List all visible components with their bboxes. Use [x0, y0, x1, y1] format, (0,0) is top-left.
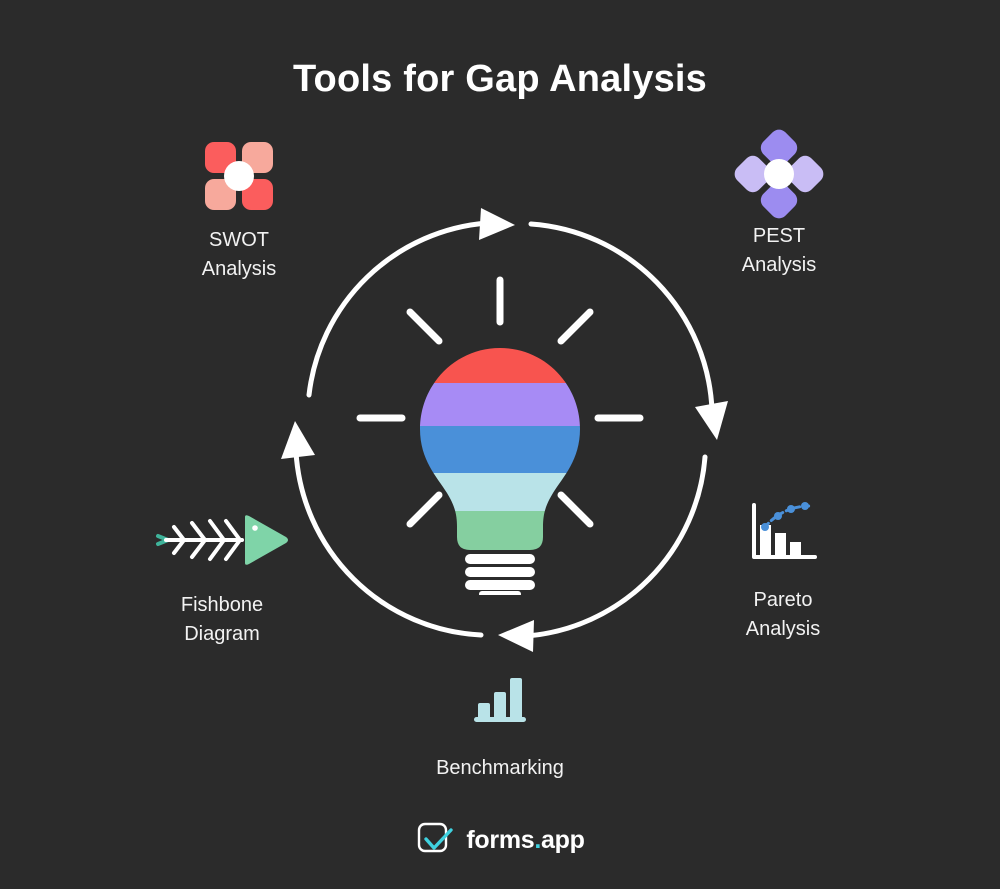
node-label-benchmarking: Benchmarking	[405, 754, 595, 783]
fishbone-icon	[150, 509, 294, 571]
lightbulb-svg	[355, 275, 645, 595]
arrowhead-left	[281, 421, 315, 459]
lightbulb-icon	[355, 275, 645, 595]
arrowhead-top	[479, 208, 515, 240]
arrowhead-right	[695, 401, 728, 440]
pest-iconbox	[684, 136, 874, 210]
flower-center-dot	[758, 153, 800, 195]
node-label-pareto: Pareto Analysis	[688, 586, 878, 644]
bulb-base	[465, 554, 535, 595]
four-square-flower-rotated-icon	[731, 126, 827, 222]
pareto-iconbox	[688, 500, 878, 574]
infographic-canvas: Tools for Gap Analysis	[0, 0, 1000, 889]
fishbone-iconbox	[127, 505, 317, 579]
arrowhead-bottom	[498, 620, 534, 652]
node-label-swot: SWOT Analysis	[144, 226, 334, 284]
formsapp-check-logo	[415, 820, 455, 860]
page-title: Tools for Gap Analysis	[0, 58, 1000, 101]
node-swot[interactable]: SWOT Analysis	[144, 140, 334, 284]
node-label-fishbone: Fishbone Diagram	[127, 591, 317, 649]
fish-head	[245, 515, 288, 565]
brand-wordmark: forms.app	[466, 826, 584, 855]
node-label-pest: PEST Analysis	[684, 222, 874, 280]
benchmark-bars	[474, 678, 526, 722]
node-pareto[interactable]: Pareto Analysis	[688, 500, 878, 644]
brand-part1: forms	[466, 826, 534, 854]
four-square-flower-icon	[205, 142, 273, 210]
node-benchmarking[interactable]: Benchmarking	[405, 668, 595, 783]
node-fishbone[interactable]: Fishbone Diagram	[127, 505, 317, 649]
bar-chart-icon	[467, 670, 533, 726]
footer-logo[interactable]: forms.app	[0, 820, 1000, 860]
brand-part2: app	[541, 826, 585, 854]
flower-center-dot	[224, 161, 254, 191]
pareto-points	[761, 502, 809, 531]
benchmarking-iconbox	[405, 668, 595, 742]
logo-check-icon	[426, 830, 451, 848]
node-pest[interactable]: PEST Analysis	[684, 136, 874, 280]
pareto-chart-icon	[745, 500, 821, 566]
swot-iconbox	[144, 140, 334, 214]
bulb-colour-bands	[410, 345, 590, 561]
fish-eye	[252, 525, 258, 531]
